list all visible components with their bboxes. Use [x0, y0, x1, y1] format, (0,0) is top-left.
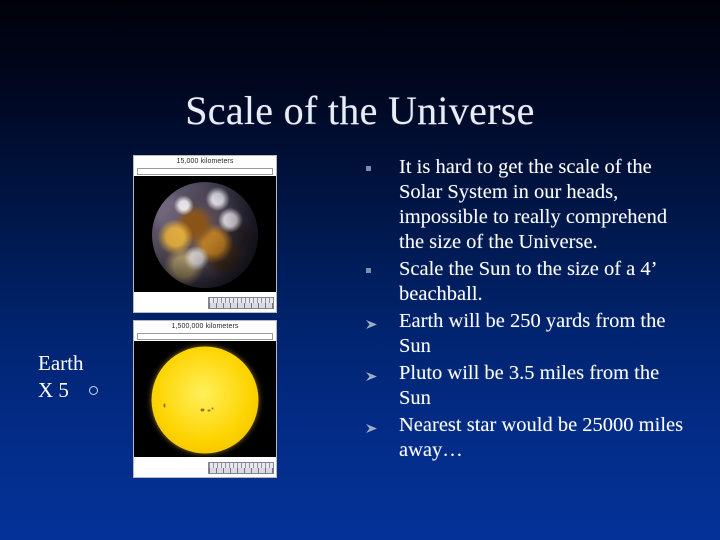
list-item: Nearest star would be 25000 miles away… — [363, 413, 693, 463]
bullet-arrow-icon — [363, 309, 399, 329]
caption-multiplier: X 5 — [38, 377, 69, 404]
bullet-arrow-icon — [363, 413, 399, 433]
sunspot-icon — [211, 407, 213, 409]
sunspot-icon — [201, 409, 205, 412]
sunspot-icon — [163, 403, 165, 407]
earth-image — [134, 176, 276, 294]
list-item: Earth will be 250 yards from the Sun — [363, 309, 693, 359]
earth-figure-caption: 15,000 kilometers — [134, 156, 276, 168]
earth-figure-subbar — [137, 168, 273, 175]
presentation-slide: Scale of the Universe Earth X 5 15,000 k… — [0, 0, 720, 540]
earth-figure-footer — [134, 292, 276, 312]
bullet-list: It is hard to get the scale of the Solar… — [363, 155, 693, 465]
earth-globe-graphic — [152, 182, 258, 288]
caption-line-2: X 5 — [38, 377, 98, 404]
sun-disc-graphic — [152, 347, 259, 454]
bullet-arrow-icon — [363, 361, 399, 381]
sun-figure-footer — [134, 457, 276, 477]
bullet-square-icon — [363, 155, 399, 171]
sun-figure-subbar — [137, 333, 273, 340]
bullet-square-icon — [363, 257, 399, 273]
list-item-text: Pluto will be 3.5 miles from the Sun — [399, 361, 693, 411]
sunspot-icon — [207, 410, 210, 412]
list-item: Scale the Sun to the size of a 4’ beachb… — [363, 257, 693, 307]
list-item-text: Nearest star would be 25000 miles away… — [399, 413, 693, 463]
earth-scale-caption: Earth X 5 — [38, 350, 98, 404]
list-item: It is hard to get the scale of the Solar… — [363, 155, 693, 255]
list-item-text: Earth will be 250 yards from the Sun — [399, 309, 693, 359]
list-item-text: It is hard to get the scale of the Solar… — [399, 155, 693, 255]
ruler-icon — [208, 462, 274, 474]
sun-figure-caption: 1,500,000 kilometers — [134, 321, 276, 333]
earth-figure-panel: 15,000 kilometers — [133, 155, 277, 313]
list-item: Pluto will be 3.5 miles from the Sun — [363, 361, 693, 411]
caption-line-1: Earth — [38, 350, 98, 377]
page-title: Scale of the Universe — [0, 89, 720, 133]
sun-figure-panel: 1,500,000 kilometers — [133, 320, 277, 478]
degree-circle-icon — [89, 386, 98, 395]
sun-image — [134, 341, 276, 459]
ruler-icon — [208, 297, 274, 309]
list-item-text: Scale the Sun to the size of a 4’ beachb… — [399, 257, 693, 307]
